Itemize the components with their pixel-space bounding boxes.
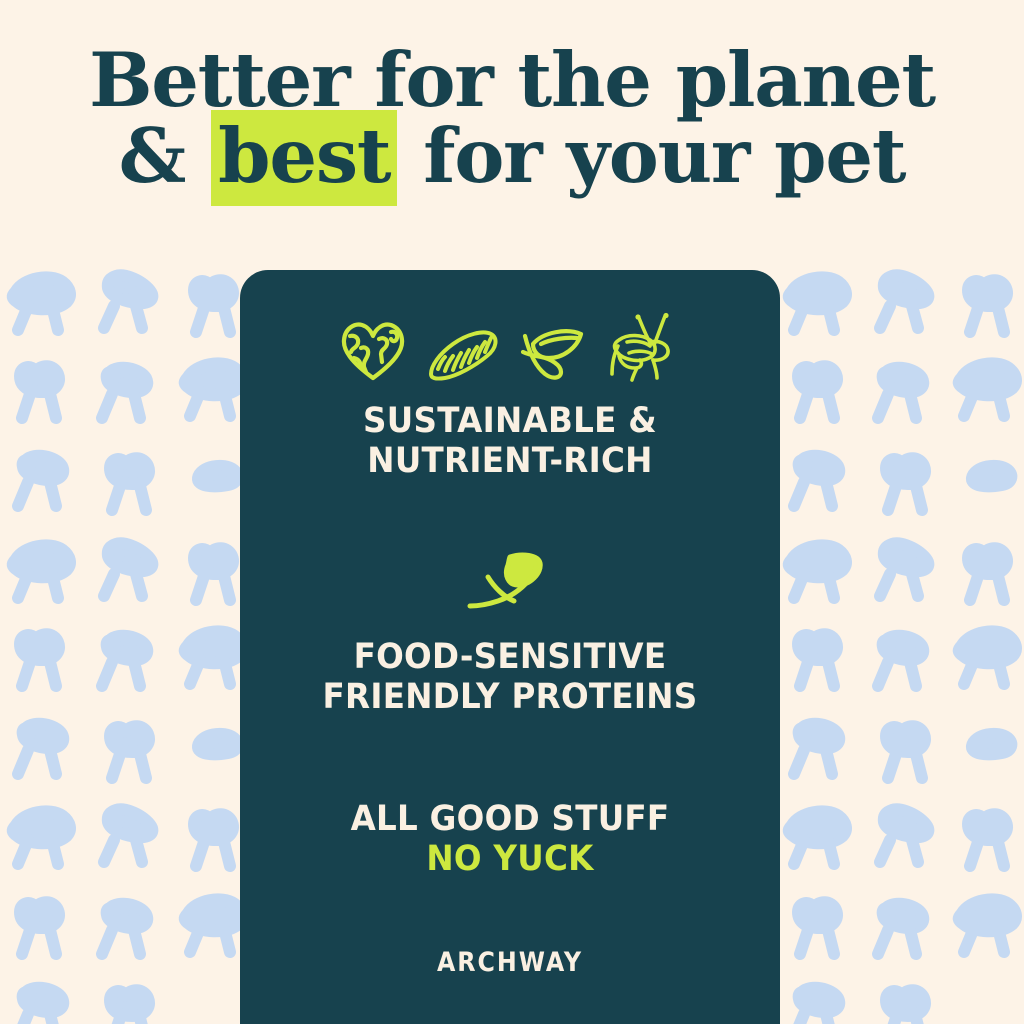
feature-2-title-line-1: FOOD-SENSITIVE xyxy=(259,638,761,678)
feature-card: SUSTAINABLE & NUTRIENT-RICH FOOD-SENSITI… xyxy=(240,270,780,1024)
headline-ampersand: & xyxy=(119,112,186,200)
feature-3-title-line-2: NO YUCK xyxy=(259,840,761,880)
feature-1-icon-row xyxy=(240,310,780,384)
headline: Better for the planet & best for your pe… xyxy=(0,44,1024,193)
headline-line-2: & best for your pet xyxy=(0,120,1024,193)
feature-2-title-line-2: FRIENDLY PROTEINS xyxy=(259,678,761,718)
sprout-leaf-icon xyxy=(464,551,556,617)
feature-sustainable: SUSTAINABLE & NUTRIENT-RICH xyxy=(240,310,780,482)
leaf-icon xyxy=(519,322,589,384)
feature-2-icon-row xyxy=(240,548,780,620)
feature-1-title-line-1: SUSTAINABLE & xyxy=(259,402,761,442)
grub-larva-icon xyxy=(425,326,501,384)
feature-1-title-line-2: NUTRIENT-RICH xyxy=(259,442,761,482)
grasshopper-icon xyxy=(607,312,681,384)
feature-all-good-stuff: ALL GOOD STUFF NO YUCK xyxy=(240,800,780,880)
feature-food-sensitive: FOOD-SENSITIVE FRIENDLY PROTEINS xyxy=(240,548,780,718)
feature-3-title: ALL GOOD STUFF NO YUCK xyxy=(259,800,761,880)
promo-graphic: Better for the planet & best for your pe… xyxy=(0,0,1024,1024)
headline-line-2-suffix: for your pet xyxy=(423,112,905,200)
earth-heart-icon xyxy=(339,318,407,384)
brand-logo: ARCHWAY xyxy=(272,947,747,978)
headline-highlight-best: best xyxy=(211,110,397,206)
feature-1-title: SUSTAINABLE & NUTRIENT-RICH xyxy=(259,402,761,482)
headline-line-1: Better for the planet xyxy=(0,44,1024,117)
feature-2-title: FOOD-SENSITIVE FRIENDLY PROTEINS xyxy=(259,638,761,718)
feature-3-title-line-1: ALL GOOD STUFF xyxy=(259,800,761,840)
